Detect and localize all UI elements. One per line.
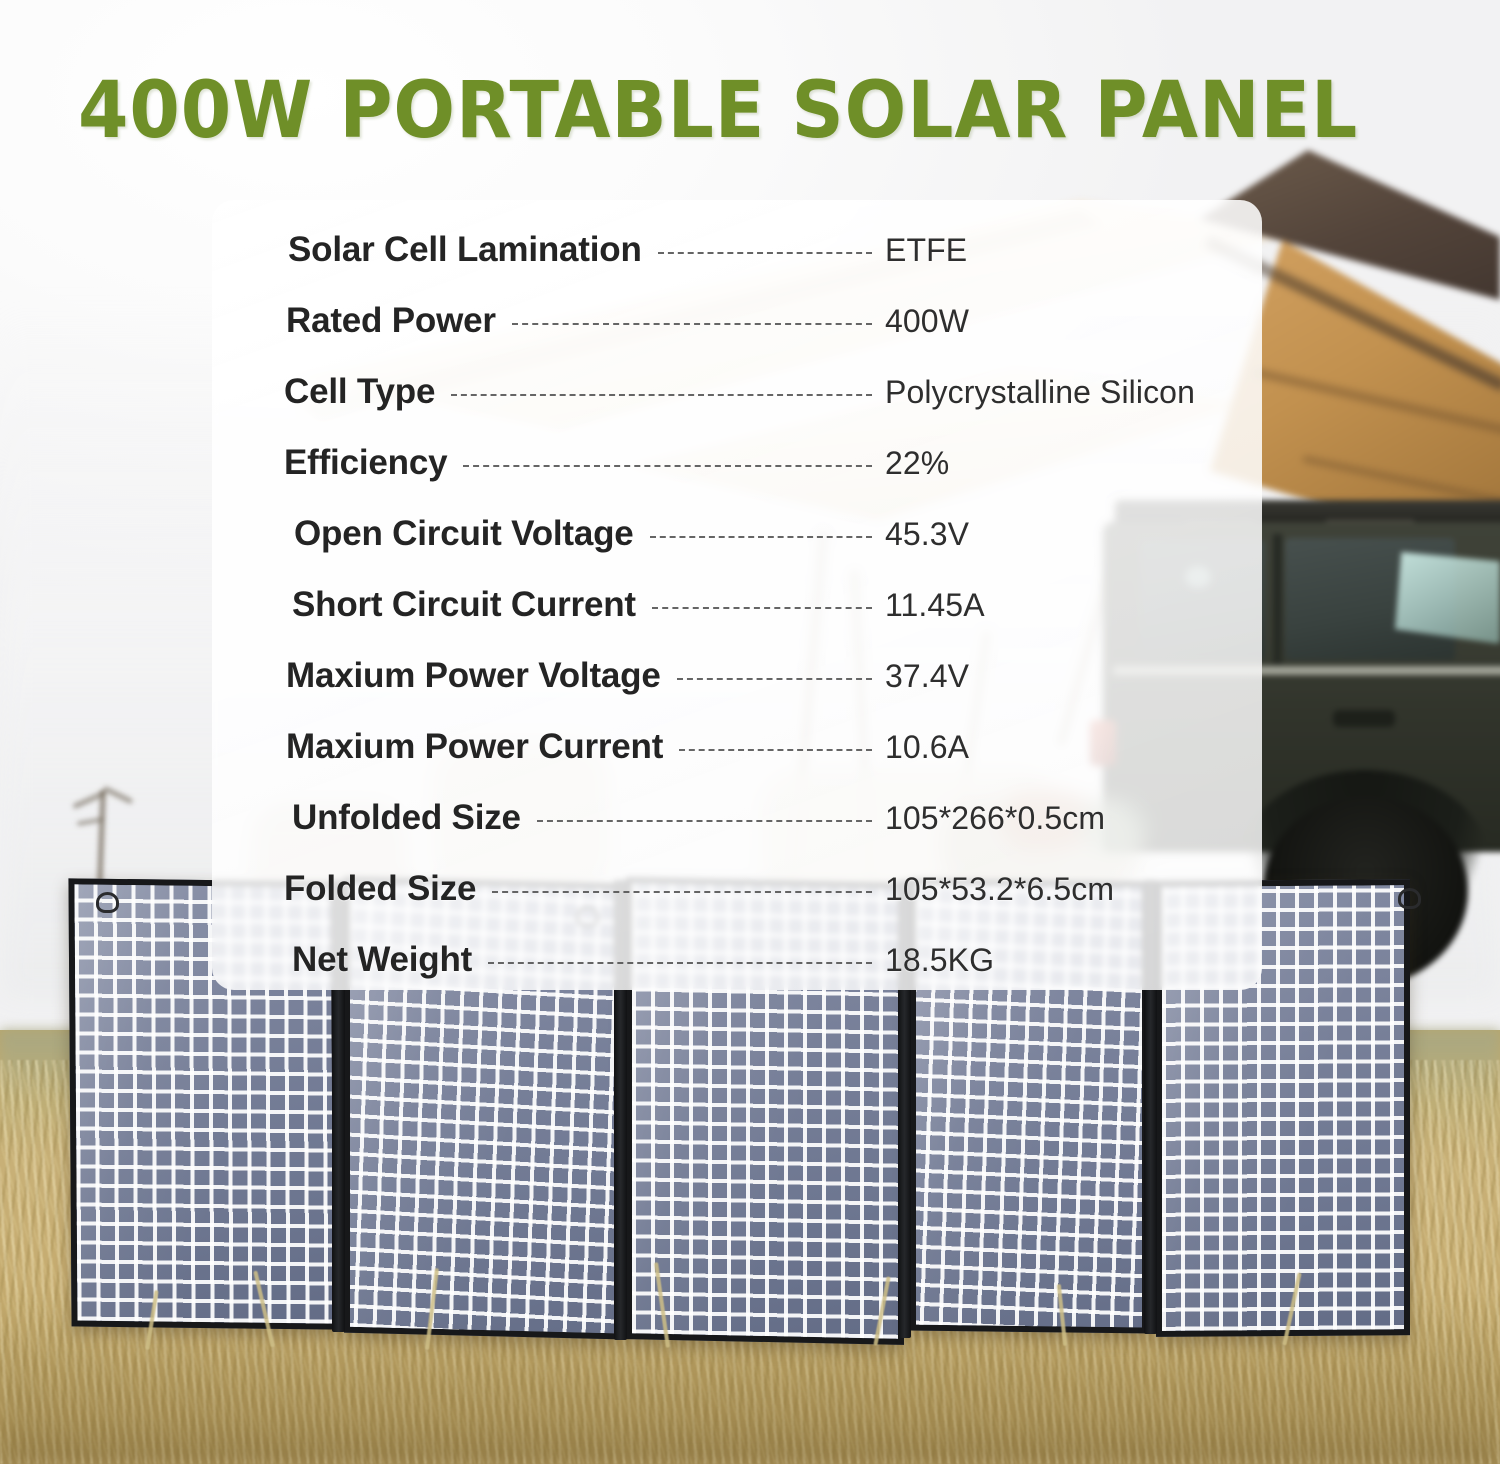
spec-connector-line — [537, 820, 872, 822]
spec-label: Cell Type — [284, 372, 435, 412]
spec-label: Maxium Power Current — [286, 727, 663, 767]
spec-row: Unfolded Size105*266*0.5cm — [212, 790, 1262, 846]
spec-label: Solar Cell Lamination — [288, 230, 642, 270]
spec-connector-line — [650, 536, 872, 538]
spec-row: Maxium Power Current10.6A — [212, 719, 1262, 775]
spec-value: 10.6A — [885, 729, 969, 766]
spec-value: 400W — [885, 303, 969, 340]
spec-row: Efficiency22% — [212, 435, 1262, 491]
spec-value: ETFE — [885, 232, 967, 269]
spec-label: Open Circuit Voltage — [294, 514, 634, 554]
spec-label: Short Circuit Current — [292, 585, 636, 625]
window-glare — [1395, 552, 1500, 644]
door-handle — [1333, 710, 1395, 727]
spec-overlay-card: Solar Cell LaminationETFERated Power400W… — [212, 200, 1262, 990]
spec-connector-line — [677, 678, 872, 680]
spec-connector-line — [492, 891, 872, 893]
page-title: 400W PORTABLE SOLAR PANEL — [78, 66, 1358, 156]
spec-value: Polycrystalline Silicon — [885, 374, 1195, 411]
spec-connector-line — [451, 394, 872, 396]
spec-connector-line — [512, 323, 872, 325]
spec-row: Solar Cell LaminationETFE — [212, 222, 1262, 278]
spec-value: 22% — [885, 445, 949, 482]
spec-row: Cell TypePolycrystalline Silicon — [212, 364, 1262, 420]
spec-row: Short Circuit Current11.45A — [212, 577, 1262, 633]
spec-label: Rated Power — [286, 301, 496, 341]
spec-label: Folded Size — [284, 869, 476, 909]
spec-value: 105*53.2*6.5cm — [885, 871, 1114, 908]
spec-label: Net Weight — [292, 940, 472, 980]
spec-connector-line — [679, 749, 872, 751]
spec-row: Rated Power400W — [212, 293, 1262, 349]
spec-value: 37.4V — [885, 658, 969, 695]
spec-connector-line — [463, 465, 872, 467]
spec-value: 45.3V — [885, 516, 969, 553]
spec-label: Unfolded Size — [292, 798, 521, 838]
spec-row: Net Weight18.5KG — [212, 932, 1262, 988]
spec-value: 105*266*0.5cm — [885, 800, 1105, 837]
spec-label: Maxium Power Voltage — [286, 656, 661, 696]
spec-row: Folded Size105*53.2*6.5cm — [212, 861, 1262, 917]
spec-connector-line — [652, 607, 872, 609]
spec-row: Open Circuit Voltage45.3V — [212, 506, 1262, 562]
panel-hanging-loop — [1398, 888, 1421, 909]
spec-value: 11.45A — [885, 587, 985, 624]
panel-hanging-loop — [96, 892, 119, 913]
spec-table: Solar Cell LaminationETFERated Power400W… — [212, 200, 1262, 990]
spec-row: Maxium Power Voltage37.4V — [212, 648, 1262, 704]
vehicle-pillar — [1273, 534, 1282, 664]
spec-label: Efficiency — [284, 443, 447, 483]
spec-value: 18.5KG — [885, 942, 994, 979]
spec-connector-line — [488, 962, 872, 964]
spec-connector-line — [658, 252, 872, 254]
